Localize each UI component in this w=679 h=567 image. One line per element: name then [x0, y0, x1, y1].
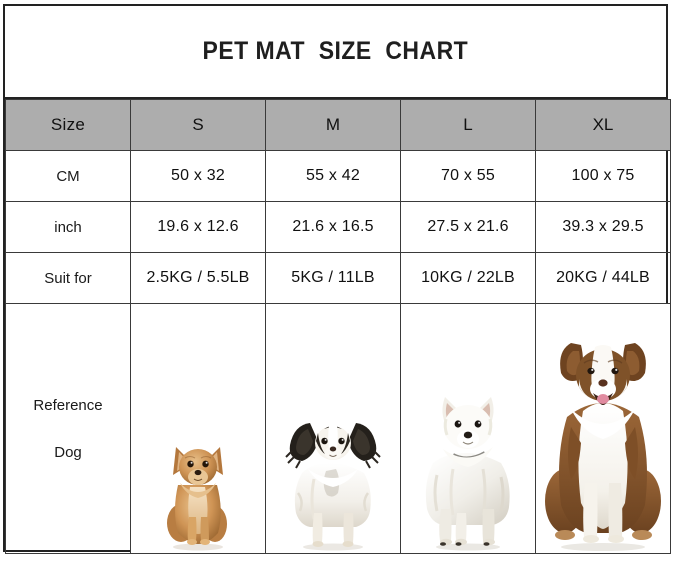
table-row-suit-for: Suit for 2.5KG / 5.5LB 5KG / 11LB 10KG /… [6, 253, 671, 304]
cell-cm-m: 55 x 42 [266, 151, 401, 202]
header-cell-l: L [401, 100, 536, 151]
cell-suit-xl: 20KG / 44LB [536, 253, 671, 304]
cell-suit-l: 10KG / 22LB [401, 253, 536, 304]
row-label-cm: CM [6, 151, 131, 202]
cell-cm-l: 70 x 55 [401, 151, 536, 202]
pet-mat-size-chart: PET MAT SIZE CHART Size S M L XL CM 50 x… [3, 4, 668, 552]
row-label-suit-for: Suit for [6, 253, 131, 304]
cell-inch-s: 19.6 x 12.6 [131, 202, 266, 253]
header-cell-xl: XL [536, 100, 671, 151]
chart-title-band: PET MAT SIZE CHART [5, 6, 666, 99]
table-header: Size S M L XL [6, 100, 671, 151]
border-collie-brown-white-sitting-image [541, 323, 665, 551]
papillon-black-white-standing-image [280, 401, 386, 551]
table-row-inch: inch 19.6 x 12.6 21.6 x 16.5 27.5 x 21.6… [6, 202, 671, 253]
size-chart-table: Size S M L XL CM 50 x 32 55 x 42 70 x 55… [5, 99, 671, 554]
cell-suit-m: 5KG / 11LB [266, 253, 401, 304]
cell-inch-xl: 39.3 x 29.5 [536, 202, 671, 253]
table-body: CM 50 x 32 55 x 42 70 x 55 100 x 75 inch… [6, 151, 671, 554]
header-cell-s: S [131, 100, 266, 151]
dog-cell-xl [536, 304, 671, 554]
table-row-reference-dog: Reference Dog [6, 304, 671, 554]
dog-cell-s [131, 304, 266, 554]
west-highland-white-terrier-standing-image [413, 383, 523, 551]
reference-label-line1: Reference [6, 398, 130, 413]
cell-inch-l: 27.5 x 21.6 [401, 202, 536, 253]
cell-suit-s: 2.5KG / 5.5LB [131, 253, 266, 304]
header-cell-size-label: Size [6, 100, 131, 151]
small-tan-chihuahua-sitting-image [158, 427, 238, 551]
dog-cell-l [401, 304, 536, 554]
page-title: PET MAT SIZE CHART [203, 37, 469, 66]
row-label-inch: inch [6, 202, 131, 253]
cell-cm-xl: 100 x 75 [536, 151, 671, 202]
row-label-reference-dog: Reference Dog [6, 304, 131, 554]
table-row-cm: CM 50 x 32 55 x 42 70 x 55 100 x 75 [6, 151, 671, 202]
dog-cell-m [266, 304, 401, 554]
header-row: Size S M L XL [6, 100, 671, 151]
cell-inch-m: 21.6 x 16.5 [266, 202, 401, 253]
cell-cm-s: 50 x 32 [131, 151, 266, 202]
header-cell-m: M [266, 100, 401, 151]
reference-label-line2: Dog [6, 445, 130, 460]
